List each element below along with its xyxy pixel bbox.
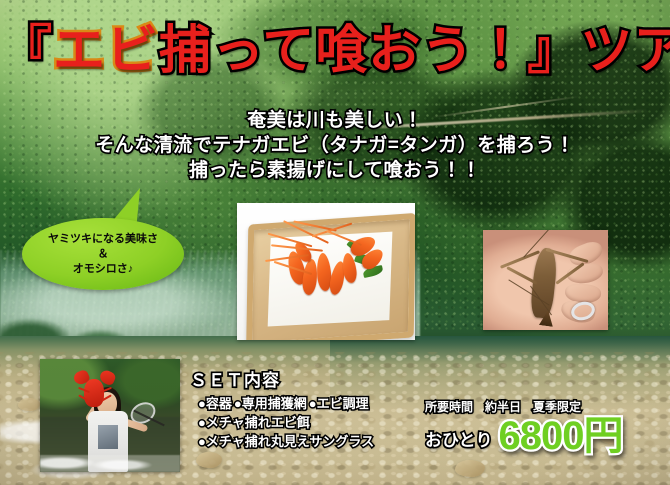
subtitle-line-3: 捕ったら素揚げにして喰おう！！: [0, 158, 670, 183]
title-open-bracket: 『: [0, 25, 53, 77]
poster: 『エビ 捕って喰おう！』ツアー 奄美は川も美しい！ そんな清流でテナガエビ（タナ…: [0, 0, 670, 485]
poster-title: 『エビ 捕って喰おう！』ツアー: [0, 25, 670, 77]
set-content-row: ●メチャ捕れ丸見えサングラス: [198, 432, 440, 451]
duration-label: 所要時間: [425, 398, 473, 415]
badge-line-3: オモシロさ♪: [73, 262, 134, 277]
per-person-label: おひとり: [425, 426, 493, 455]
set-content-row: ●メチャ捕れエビ餌: [198, 413, 440, 432]
set-item: ●容器: [198, 396, 232, 411]
price-block: 所要時間 約半日 夏季限定 おひとり 6800円: [425, 398, 665, 455]
photo-prawn-dish: [237, 203, 415, 340]
set-item: ●エビ調理: [309, 396, 369, 411]
price-amount: 6800円: [499, 417, 623, 455]
price-meta-row: 所要時間 約半日 夏季限定: [425, 398, 665, 415]
badge-text: ヤミツキになる美味さ ＆ オモシロさ♪: [22, 218, 184, 290]
photo-prawn-hand: [483, 230, 608, 330]
poster-subtitle: 奄美は川も美しい！ そんな清流でテナガエビ（タナガ=タンガ）を捕ろう！ 捕ったら…: [0, 108, 670, 183]
title-rest: 捕って喰おう！』ツアー: [159, 25, 670, 77]
badge-line-1: ヤミツキになる美味さ: [48, 232, 158, 247]
set-content-title: ＳＥＴ内容: [190, 366, 440, 391]
photo-person: [40, 359, 180, 472]
subtitle-line-1: 奄美は川も美しい！: [0, 108, 670, 133]
set-item: ●メチャ捕れエビ餌: [198, 415, 310, 430]
subtitle-line-2: そんな清流でテナガエビ（タナガ=タンガ）を捕ろう！: [0, 133, 670, 158]
set-content-list: ●容器●専用捕獲網●エビ調理 ●メチャ捕れエビ餌 ●メチャ捕れ丸見えサングラス: [198, 394, 440, 451]
season-note: 夏季限定: [533, 398, 581, 415]
set-item: ●専用捕獲網: [234, 396, 307, 411]
stream-foam: [40, 455, 180, 472]
set-content-block: ＳＥＴ内容 ●容器●専用捕獲網●エビ調理 ●メチャ捕れエビ餌 ●メチャ捕れ丸見え…: [190, 366, 440, 451]
set-item: ●メチャ捕れ丸見えサングラス: [198, 434, 374, 449]
toy-lobster: [74, 371, 116, 409]
badge-line-2: ＆: [98, 247, 109, 262]
price-amount-row: おひとり 6800円: [425, 417, 665, 455]
title-keyword-ebi: エビ: [53, 25, 159, 77]
duration-value: 約半日: [485, 398, 521, 415]
tshirt-print: [98, 425, 118, 449]
set-content-row: ●容器●専用捕獲網●エビ調理: [198, 394, 440, 413]
tagline-badge: ヤミツキになる美味さ ＆ オモシロさ♪: [22, 218, 184, 290]
